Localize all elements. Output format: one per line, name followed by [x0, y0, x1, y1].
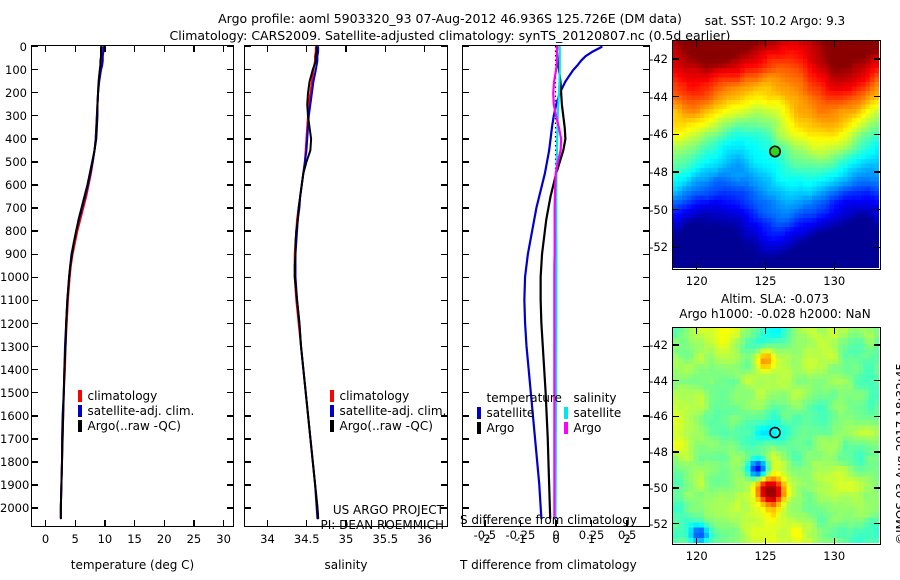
depth-tick-mark	[32, 184, 38, 185]
depth-tick-label: 800	[0, 224, 27, 238]
depth-tick-mark-right	[441, 161, 447, 162]
sla-map-title-line2: Argo h1000: -0.028 h2000: NaN	[655, 307, 895, 321]
map-lon-tick-label: 125	[744, 274, 788, 288]
depth-tick-mark-right	[441, 207, 447, 208]
legend-label-satellite-adj: satellite-adj. clim.	[88, 404, 195, 418]
legend-label-climatology: climatology	[88, 389, 158, 403]
map-lon-tick-mark-top	[765, 41, 766, 47]
depth-tick-mark-right	[441, 277, 447, 278]
map-lat-tick-label: -44	[640, 90, 668, 104]
depth-tick-mark	[245, 69, 251, 70]
difference-legend-salinity: salinity satellite Argo	[564, 390, 621, 435]
sla-map-panel	[672, 327, 881, 545]
depth-tick-mark	[32, 92, 38, 93]
map-lat-tick-label: -50	[640, 481, 668, 495]
map-lat-tick-mark	[673, 487, 679, 488]
depth-tick-mark	[32, 277, 38, 278]
salinity-profile-panel	[244, 45, 448, 527]
depth-tick-label: 600	[0, 178, 27, 192]
depth-tick-mark-right	[227, 138, 233, 139]
map-lon-tick-label: 130	[812, 549, 856, 563]
depth-tick-mark	[245, 230, 251, 231]
depth-tick-mark-right	[643, 115, 649, 116]
map-lon-tick-label: 120	[675, 549, 719, 563]
map-lon-tick-label: 130	[812, 274, 856, 288]
temperature-axis-label: temperature (deg C)	[31, 558, 234, 572]
depth-tick-mark	[32, 346, 38, 347]
map-lat-tick-mark-right	[874, 523, 880, 524]
legend-label-s-argo: Argo	[574, 421, 602, 435]
depth-tick-mark	[245, 392, 251, 393]
depth-tick-mark-right	[441, 300, 447, 301]
map-lat-tick-mark	[673, 380, 679, 381]
depth-tick-label: 1900	[0, 478, 27, 492]
legend-item-t-satellite: satellite	[477, 405, 562, 420]
x-tick-mark	[193, 520, 194, 526]
depth-tick-mark	[245, 461, 251, 462]
legend-label-t-satellite: satellite	[487, 406, 535, 420]
depth-tick-mark-right	[227, 161, 233, 162]
depth-tick-mark-right	[441, 46, 447, 47]
map-lon-tick-label: 125	[744, 549, 788, 563]
map-lat-tick-mark-right	[874, 209, 880, 210]
depth-tick-mark	[32, 461, 38, 462]
depth-tick-label: 1000	[0, 270, 27, 284]
depth-tick-mark	[32, 484, 38, 485]
map-lon-tick-mark	[834, 263, 835, 269]
depth-tick-mark	[32, 323, 38, 324]
map-lat-tick-mark	[673, 523, 679, 524]
depth-tick-mark-right	[643, 507, 649, 508]
depth-tick-mark-right	[643, 323, 649, 324]
x-tick-mark	[385, 46, 386, 52]
map-lat-tick-mark-right	[874, 487, 880, 488]
depth-tick-mark-right	[441, 438, 447, 439]
difference-temperature-axis-label: T difference from climatology	[460, 558, 652, 572]
x-tick-mark	[164, 46, 165, 52]
salinity-legend: climatology satellite-adj. clim. Argo(..…	[330, 388, 446, 433]
legend-label-t-argo: Argo	[487, 421, 515, 435]
map-lon-tick-mark	[696, 263, 697, 269]
depth-tick-mark	[245, 415, 251, 416]
depth-tick-mark-right	[643, 300, 649, 301]
temperature-profile-panel	[31, 45, 234, 527]
depth-tick-mark	[463, 415, 469, 416]
x-tick-mark	[193, 46, 194, 52]
depth-tick-label: 1100	[0, 293, 27, 307]
depth-tick-mark	[245, 46, 251, 47]
map-lat-tick-mark	[673, 171, 679, 172]
depth-tick-mark	[463, 161, 469, 162]
depth-tick-mark	[245, 254, 251, 255]
depth-tick-label: 1500	[0, 386, 27, 400]
x-tick-mark	[104, 46, 105, 52]
depth-tick-mark-right	[227, 369, 233, 370]
depth-tick-mark	[32, 507, 38, 508]
sst-map-panel	[672, 40, 881, 270]
x-tick-mark	[75, 520, 76, 526]
legend-item-t-argo: Argo	[477, 420, 562, 435]
depth-tick-mark-right	[227, 184, 233, 185]
map-lat-tick-mark-right	[874, 451, 880, 452]
depth-tick-mark	[463, 207, 469, 208]
difference-profile-panel	[462, 45, 650, 527]
depth-tick-mark	[463, 277, 469, 278]
map-lon-tick-mark-top	[834, 41, 835, 47]
depth-tick-mark	[463, 323, 469, 324]
x-tick-mark	[223, 46, 224, 52]
sst-map-title: sat. SST: 10.2 Argo: 9.3	[660, 14, 890, 28]
depth-tick-mark-right	[441, 369, 447, 370]
depth-tick-mark	[463, 69, 469, 70]
depth-tick-mark	[32, 438, 38, 439]
figure-title-line1: Argo profile: aoml 5903320_93 07-Aug-201…	[218, 11, 682, 26]
map-lat-tick-label: -44	[640, 374, 668, 388]
depth-tick-label: 1400	[0, 363, 27, 377]
depth-tick-mark	[32, 115, 38, 116]
depth-tick-mark	[245, 277, 251, 278]
map-lat-tick-label: -42	[640, 338, 668, 352]
map-lat-tick-mark	[673, 96, 679, 97]
depth-tick-mark	[463, 346, 469, 347]
depth-tick-label: 500	[0, 155, 27, 169]
map-lat-tick-mark-right	[874, 171, 880, 172]
legend-item-argo: Argo(..raw -QC)	[330, 418, 446, 433]
legend-swatch-s-argo	[564, 422, 568, 434]
depth-tick-label: 1700	[0, 432, 27, 446]
depth-tick-mark-right	[643, 438, 649, 439]
legend-item-s-argo: Argo	[564, 420, 621, 435]
difference-legend-temperature: temperature satellite Argo	[477, 390, 562, 435]
depth-tick-mark-right	[227, 230, 233, 231]
map-lat-tick-mark	[673, 247, 679, 248]
depth-tick-mark	[245, 323, 251, 324]
legend-item-satellite-adj: satellite-adj. clim.	[78, 403, 194, 418]
legend-swatch-climatology	[330, 390, 334, 402]
depth-tick-mark-right	[643, 184, 649, 185]
difference-salinity-axis-label: S difference from climatology	[460, 513, 652, 527]
depth-tick-mark	[463, 92, 469, 93]
x-tick-mark	[75, 46, 76, 52]
depth-tick-mark-right	[227, 207, 233, 208]
map-lon-tick-mark-top	[696, 328, 697, 334]
depth-tick-mark	[32, 207, 38, 208]
depth-tick-mark-right	[227, 392, 233, 393]
depth-tick-mark-right	[441, 69, 447, 70]
legend-label-climatology: climatology	[340, 389, 410, 403]
map-lat-tick-mark	[673, 209, 679, 210]
project-credit-line2: PI: DEAN ROEMMICH	[248, 518, 444, 532]
legend-header-temperature: temperature	[477, 390, 562, 405]
depth-tick-mark-right	[227, 92, 233, 93]
depth-tick-label: 100	[0, 63, 27, 77]
depth-tick-mark-right	[643, 161, 649, 162]
map-lat-tick-mark-right	[874, 344, 880, 345]
x-tick-mark	[104, 520, 105, 526]
x-tick-mark	[223, 520, 224, 526]
depth-tick-mark-right	[441, 230, 447, 231]
depth-tick-mark	[245, 115, 251, 116]
map-lat-tick-label: -46	[640, 409, 668, 423]
depth-tick-mark-right	[227, 484, 233, 485]
depth-tick-mark-right	[227, 507, 233, 508]
depth-tick-label: 300	[0, 109, 27, 123]
legend-header-salinity: salinity	[564, 390, 621, 405]
map-lon-tick-mark	[765, 538, 766, 544]
depth-tick-mark-right	[441, 484, 447, 485]
map-lon-tick-label: 120	[675, 274, 719, 288]
depth-tick-mark	[245, 369, 251, 370]
salinity-axis-label: salinity	[244, 558, 448, 572]
map-lat-tick-label: -52	[640, 517, 668, 531]
legend-item-satellite-adj: satellite-adj. clim.	[330, 403, 446, 418]
depth-tick-mark	[463, 184, 469, 185]
legend-label-s-satellite: satellite	[574, 406, 622, 420]
legend-item-s-satellite: satellite	[564, 405, 621, 420]
map-lon-tick-mark-top	[696, 41, 697, 47]
depth-tick-label: 1300	[0, 340, 27, 354]
map-lat-tick-mark	[673, 451, 679, 452]
legend-item-climatology: climatology	[78, 388, 194, 403]
depth-tick-mark-right	[441, 254, 447, 255]
depth-tick-mark-right	[643, 369, 649, 370]
map-lat-tick-mark-right	[874, 416, 880, 417]
depth-tick-mark-right	[441, 346, 447, 347]
depth-tick-mark	[463, 254, 469, 255]
map-lat-tick-mark-right	[874, 134, 880, 135]
depth-tick-mark	[245, 207, 251, 208]
depth-tick-label: 400	[0, 132, 27, 146]
map-lon-tick-mark-top	[834, 328, 835, 334]
depth-tick-label: 0	[0, 40, 27, 54]
legend-label-argo: Argo(..raw -QC)	[340, 419, 433, 433]
legend-swatch-satellite-adj	[330, 405, 334, 417]
legend-label-argo: Argo(..raw -QC)	[88, 419, 181, 433]
depth-tick-mark-right	[441, 184, 447, 185]
depth-tick-mark	[32, 69, 38, 70]
depth-tick-mark-right	[227, 346, 233, 347]
depth-tick-mark	[245, 92, 251, 93]
depth-tick-mark	[463, 392, 469, 393]
depth-tick-mark	[32, 369, 38, 370]
map-lat-tick-label: -48	[640, 165, 668, 179]
x-tick-mark	[306, 46, 307, 52]
depth-tick-mark	[463, 438, 469, 439]
depth-tick-mark	[32, 138, 38, 139]
depth-tick-mark-right	[441, 115, 447, 116]
depth-tick-mark	[463, 461, 469, 462]
depth-tick-mark-right	[643, 230, 649, 231]
depth-tick-mark-right	[227, 115, 233, 116]
legend-label-salinity-group: salinity	[574, 391, 617, 405]
temperature-legend: climatology satellite-adj. clim. Argo(..…	[78, 388, 194, 433]
depth-tick-mark-right	[227, 415, 233, 416]
x-tick-mark	[134, 46, 135, 52]
depth-tick-mark-right	[643, 461, 649, 462]
legend-label-temperature-group: temperature	[487, 391, 562, 405]
depth-tick-mark	[32, 254, 38, 255]
x-tick-mark	[164, 520, 165, 526]
depth-tick-mark-right	[441, 138, 447, 139]
map-lon-tick-mark-top	[765, 328, 766, 334]
depth-tick-mark	[463, 300, 469, 301]
x-tick-label: 2	[601, 532, 653, 546]
depth-tick-mark	[245, 161, 251, 162]
depth-tick-mark	[32, 300, 38, 301]
project-credit-line1: US ARGO PROJECT	[248, 503, 444, 517]
legend-spacer	[477, 392, 481, 404]
imos-credit: ©IMOS 03-Aug-2017 18:32:45	[894, 363, 900, 545]
map-lat-tick-label: -46	[640, 127, 668, 141]
depth-tick-mark	[32, 46, 38, 47]
depth-tick-mark-right	[643, 69, 649, 70]
map-lat-tick-label: -48	[640, 445, 668, 459]
depth-tick-mark-right	[227, 461, 233, 462]
legend-item-argo: Argo(..raw -QC)	[78, 418, 194, 433]
depth-tick-label: 700	[0, 201, 27, 215]
x-tick-mark	[134, 520, 135, 526]
depth-tick-mark	[463, 230, 469, 231]
depth-tick-mark-right	[227, 323, 233, 324]
depth-tick-mark	[463, 138, 469, 139]
legend-swatch-s-satellite	[564, 407, 568, 419]
depth-tick-mark	[245, 138, 251, 139]
depth-tick-mark-right	[227, 277, 233, 278]
argo-profile-figure: Argo profile: aoml 5903320_93 07-Aug-201…	[0, 0, 900, 580]
depth-tick-mark-right	[227, 438, 233, 439]
figure-title-line2: Climatology: CARS2009. Satellite-adjuste…	[170, 28, 731, 43]
depth-tick-mark	[463, 369, 469, 370]
map-lat-tick-mark-right	[874, 247, 880, 248]
depth-tick-mark	[32, 392, 38, 393]
map-lat-tick-mark	[673, 58, 679, 59]
depth-tick-mark	[245, 346, 251, 347]
depth-tick-mark-right	[227, 69, 233, 70]
depth-tick-mark-right	[441, 461, 447, 462]
depth-tick-mark	[245, 484, 251, 485]
x-tick-label: 36	[399, 532, 451, 546]
map-lon-tick-mark	[834, 538, 835, 544]
depth-tick-mark	[463, 484, 469, 485]
map-lat-tick-label: -50	[640, 203, 668, 217]
depth-tick-mark	[463, 115, 469, 116]
depth-tick-label: 200	[0, 86, 27, 100]
depth-tick-mark	[463, 46, 469, 47]
depth-tick-mark-right	[227, 300, 233, 301]
depth-tick-mark	[32, 230, 38, 231]
depth-tick-mark-right	[441, 323, 447, 324]
x-tick-mark	[424, 46, 425, 52]
map-lat-tick-mark	[673, 134, 679, 135]
legend-swatch-satellite-adj	[78, 405, 82, 417]
legend-swatch-argo	[330, 420, 334, 432]
map-lat-tick-mark	[673, 416, 679, 417]
depth-tick-mark	[32, 161, 38, 162]
x-tick-mark	[45, 520, 46, 526]
map-lat-tick-label: -42	[640, 52, 668, 66]
legend-item-climatology: climatology	[330, 388, 446, 403]
sla-map-title-line1: Altim. SLA: -0.073	[660, 292, 890, 306]
map-lat-tick-mark-right	[874, 380, 880, 381]
legend-swatch-t-argo	[477, 422, 481, 434]
x-tick-mark	[267, 46, 268, 52]
legend-swatch-climatology	[78, 390, 82, 402]
legend-swatch-t-satellite	[477, 407, 481, 419]
depth-tick-label: 1600	[0, 409, 27, 423]
depth-tick-mark-right	[227, 254, 233, 255]
map-lat-tick-label: -52	[640, 240, 668, 254]
depth-tick-mark	[245, 438, 251, 439]
depth-tick-mark	[245, 184, 251, 185]
map-lat-tick-mark	[673, 344, 679, 345]
depth-tick-label: 900	[0, 247, 27, 261]
depth-tick-label: 1800	[0, 455, 27, 469]
depth-tick-mark-right	[441, 92, 447, 93]
depth-tick-mark-right	[643, 392, 649, 393]
map-lat-tick-mark-right	[874, 96, 880, 97]
depth-tick-mark-right	[643, 46, 649, 47]
map-lon-tick-mark	[765, 263, 766, 269]
depth-tick-mark-right	[227, 46, 233, 47]
depth-tick-mark	[32, 415, 38, 416]
x-tick-mark	[45, 46, 46, 52]
map-lon-tick-mark	[696, 538, 697, 544]
map-lat-tick-mark-right	[874, 58, 880, 59]
x-tick-mark	[345, 46, 346, 52]
depth-tick-mark	[245, 300, 251, 301]
legend-label-satellite-adj: satellite-adj. clim.	[340, 404, 447, 418]
depth-tick-label: 2000	[0, 501, 27, 515]
depth-tick-mark	[463, 507, 469, 508]
legend-swatch-argo	[78, 420, 82, 432]
depth-tick-label: 1200	[0, 317, 27, 331]
legend-spacer	[564, 392, 568, 404]
depth-tick-mark-right	[643, 277, 649, 278]
